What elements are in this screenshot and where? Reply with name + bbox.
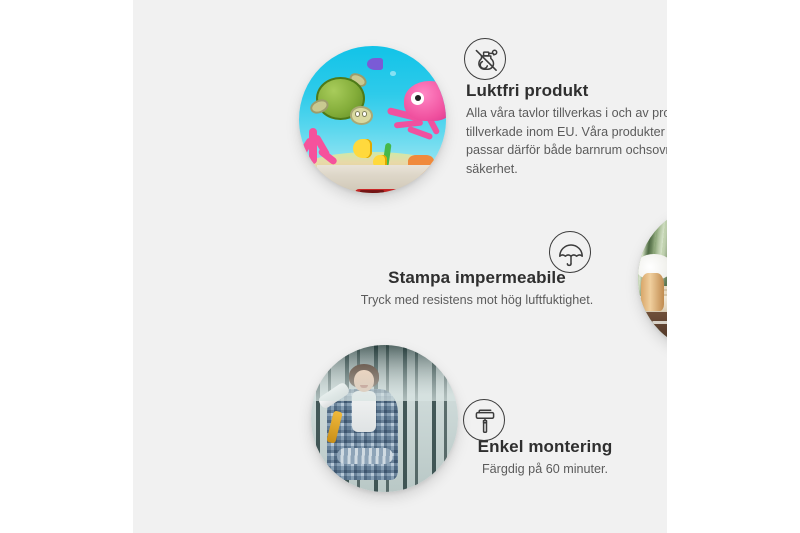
feature-description: Färgdig på 60 minuter. bbox=[433, 460, 657, 479]
purple-fish-icon bbox=[367, 58, 383, 70]
bathroom-furniture bbox=[638, 205, 667, 352]
product-feature-banner: Luktfri produkt Alla våra tavlor tillver… bbox=[0, 0, 800, 533]
turtle-icon bbox=[314, 77, 371, 127]
red-sofa bbox=[355, 189, 415, 193]
wood-cabinet bbox=[641, 312, 667, 352]
yellow-fish-icon bbox=[353, 139, 372, 158]
feature-description: Tryck med resistens mot hög luftfuktighe… bbox=[346, 291, 608, 310]
octopus-icon bbox=[396, 81, 446, 146]
crossed-arms bbox=[337, 448, 393, 464]
feature-title: Stampa impermeabile bbox=[346, 268, 608, 288]
coral-icon bbox=[299, 46, 305, 70]
feature-easy-mounting: Enkel montering Färgdig på 60 minuter. bbox=[433, 437, 657, 479]
feature-description: Alla våra tavlor tillverkas i och av pro… bbox=[466, 104, 667, 178]
content-panel: Luktfri produkt Alla våra tavlor tillver… bbox=[133, 0, 667, 533]
feature-title: Enkel montering bbox=[433, 437, 657, 457]
feature-odour-free: Luktfri produkt Alla våra tavlor tillver… bbox=[466, 81, 667, 178]
vase bbox=[641, 273, 665, 311]
feature-waterproof-print: Stampa impermeabile Tryck med resistens … bbox=[346, 268, 608, 310]
sea-life bbox=[299, 46, 446, 193]
underwater-cartoon-mural-image bbox=[299, 46, 446, 193]
umbrella-icon bbox=[549, 231, 591, 273]
no-fragrance-icon bbox=[464, 38, 506, 80]
paint-roller-icon bbox=[463, 399, 505, 441]
bathroom-botanical-wallpaper-image bbox=[638, 205, 667, 352]
forest-haze bbox=[311, 345, 458, 401]
feature-title: Luktfri produkt bbox=[466, 81, 667, 101]
room-interior bbox=[317, 165, 446, 193]
